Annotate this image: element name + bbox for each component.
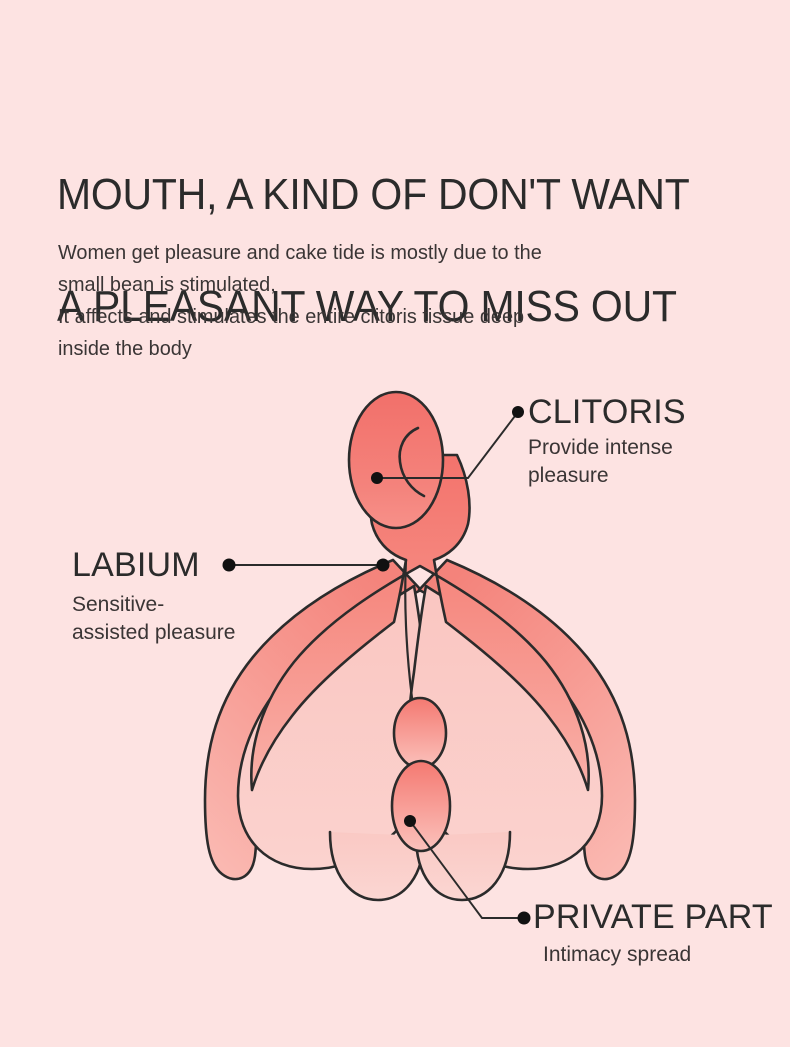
callout-clitoris: CLITORIS Provide intense pleasure [528,392,686,490]
urethral-opening [394,698,446,768]
callout-private-part: PRIVATE PART Intimacy spread [533,897,773,969]
leader-dot-clitoris-anchor [371,472,383,484]
infographic-page: MOUTH, A KIND OF DON'T WANT A PLEASANT W… [0,0,790,1047]
callout-labium: LABIUM Sensitive- assisted pleasure [72,545,235,647]
clitoral-anatomy-diagram [0,0,790,1047]
callout-private-part-subtitle: Intimacy spread [533,941,773,969]
callout-labium-subtitle: Sensitive- assisted pleasure [72,591,235,647]
leader-dot-clitoris-label [512,406,524,418]
callout-private-part-title: PRIVATE PART [533,897,773,937]
callout-clitoris-title: CLITORIS [528,392,686,432]
vaginal-opening [392,761,450,851]
glans-clitoris [349,392,443,528]
callout-labium-title: LABIUM [72,545,235,585]
leader-dot-private-anchor [404,815,416,827]
leader-dot-labium-anchor [377,559,390,572]
callout-clitoris-subtitle: Provide intense pleasure [528,434,686,490]
leader-dot-private-label [518,912,531,925]
